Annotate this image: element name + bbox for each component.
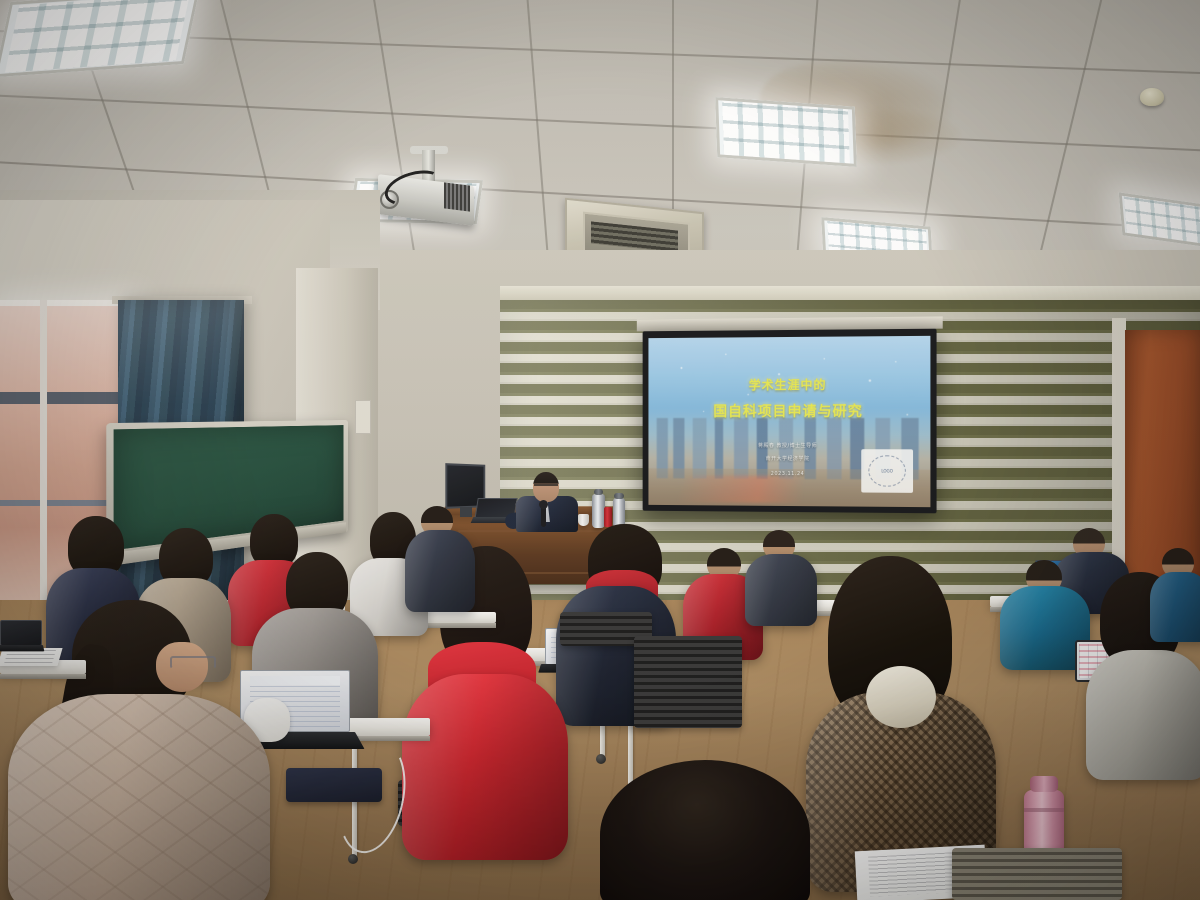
glasses-icon — [534, 484, 558, 492]
chair[interactable] — [952, 848, 1122, 900]
ceiling-light-panel — [715, 97, 857, 167]
glasses-icon — [170, 656, 216, 669]
person-back-grey — [745, 530, 817, 626]
person-houndstooth-coat — [810, 556, 990, 886]
slide-title-line2: 国自科项目申请与研究 — [648, 401, 930, 421]
ceiling-projector — [370, 150, 480, 222]
desk-caster — [348, 854, 358, 864]
person-beige-puffer-jacket — [18, 600, 268, 900]
ceiling-light-panel — [0, 0, 200, 77]
slide-logo-placard: LOGO — [861, 449, 913, 494]
person-back-left-dark — [405, 506, 475, 612]
white-scarf — [866, 666, 936, 728]
laptop[interactable] — [0, 620, 40, 654]
projected-slide: 学术生涯中的 国自科项目申请与研究 蒋殿春 教授/博士生导师 南开大学经济学院 … — [648, 336, 930, 507]
slide-logo-text: LOGO — [869, 455, 906, 487]
chair[interactable] — [634, 636, 742, 728]
microphone-icon[interactable] — [541, 505, 546, 527]
smoke-detector-icon — [1140, 88, 1164, 106]
projection-screen: 学术生涯中的 国自科项目申请与研究 蒋殿春 教授/博士生导师 南开大学经济学院 … — [643, 329, 937, 514]
slide-title-line1: 学术生涯中的 — [648, 375, 930, 393]
slide-presenter-name: 蒋殿春 教授/博士生导师 — [648, 441, 930, 449]
person-right-rear — [1150, 548, 1200, 638]
ceiling-light-panel — [1119, 192, 1200, 249]
wall-hook — [355, 400, 371, 434]
classroom-photo: 学术生涯中的 国自科项目申请与研究 蒋殿春 教授/博士生导师 南开大学经济学院 … — [0, 0, 1200, 900]
person-foreground-dark-hair — [600, 760, 810, 900]
